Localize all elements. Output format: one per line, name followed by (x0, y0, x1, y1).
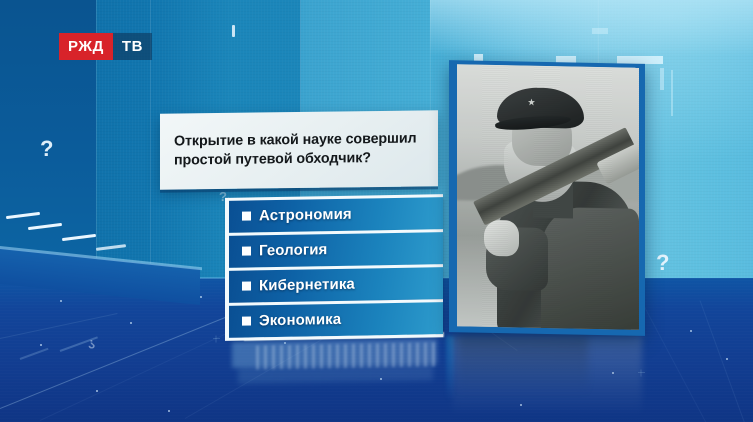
quiz-answer-label: Геология (259, 241, 327, 259)
square-bullet-icon (242, 316, 251, 325)
decor-question-mark-reflection-icon: ? (88, 338, 95, 350)
quiz-question-panel: Открытие в какой науке совершил простой … (160, 110, 438, 189)
quiz-answer-label: Кибернетика (259, 276, 355, 295)
channel-logo: РЖД ТВ (59, 33, 152, 60)
decor-tick (232, 25, 235, 37)
quiz-answer-label: Астрономия (259, 206, 352, 225)
square-bullet-icon (242, 281, 251, 290)
quiz-answer-list: Астрономия Геология Кибернетика Экономик… (228, 198, 443, 336)
square-bullet-icon (242, 211, 251, 220)
decor-tick (671, 70, 673, 116)
decor-question-mark-icon: ? (40, 138, 53, 160)
subject-photo-frame (449, 60, 645, 336)
reflection-photo-subject (458, 336, 588, 394)
floor-speck (96, 390, 98, 392)
floor-speck (130, 322, 132, 324)
quiz-answer-option-2[interactable]: Геология (228, 231, 443, 268)
square-bullet-icon (242, 246, 251, 255)
photo-grain-layer (457, 64, 639, 329)
floor-speck (40, 344, 42, 346)
decor-chip (592, 28, 608, 34)
channel-logo-secondary: ТВ (113, 33, 152, 60)
floor-speck (168, 410, 170, 412)
broadcast-graphic-stage: РЖД ТВ ? ? ? ? Открытие в какой науке со… (0, 0, 753, 422)
floor-speck (726, 358, 728, 360)
floor-cross (213, 338, 220, 339)
subject-photo (457, 64, 639, 329)
floor-speck (60, 300, 62, 302)
quiz-answer-option-3[interactable]: Кибернетика (228, 266, 443, 303)
quiz-answer-label: Экономика (259, 311, 341, 329)
decor-tick (660, 68, 664, 90)
floor-speck (690, 330, 692, 332)
quiz-answer-option-1[interactable]: Астрономия (228, 196, 443, 233)
reflection-answer-bar-soft (238, 364, 433, 383)
quiz-question-text: Открытие в какой науке совершил простой … (174, 130, 424, 171)
floor-speck (200, 296, 202, 298)
quiz-answer-option-4[interactable]: Экономика (228, 301, 443, 338)
decor-question-mark-icon: ? (656, 252, 669, 274)
floor-cross (216, 336, 217, 343)
channel-logo-primary: РЖД (59, 33, 113, 60)
